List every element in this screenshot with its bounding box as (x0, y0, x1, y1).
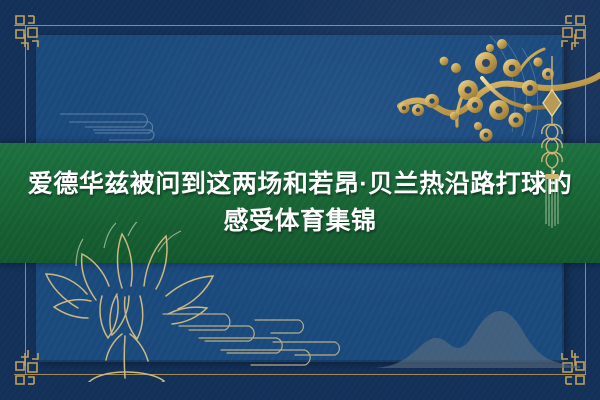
fret-corner-ornament-icon (544, 10, 590, 56)
frame-top-rule (14, 25, 586, 26)
frame-bottom-rule (14, 374, 586, 375)
poster-canvas: 爱德华兹被问到这两场和若昂·贝兰热沿路打球的 感受体育集锦 (0, 0, 600, 400)
fret-corner-ornament-icon (544, 344, 590, 390)
headline-line-1: 爱德华兹被问到这两场和若昂·贝兰热沿路打球的 (28, 167, 572, 203)
headline-block: 爱德华兹被问到这两场和若昂·贝兰热沿路打球的 感受体育集锦 (0, 143, 600, 263)
headline-line-2: 感受体育集锦 (223, 204, 376, 240)
fret-corner-ornament-icon (10, 344, 56, 390)
fret-corner-ornament-icon (10, 10, 56, 56)
